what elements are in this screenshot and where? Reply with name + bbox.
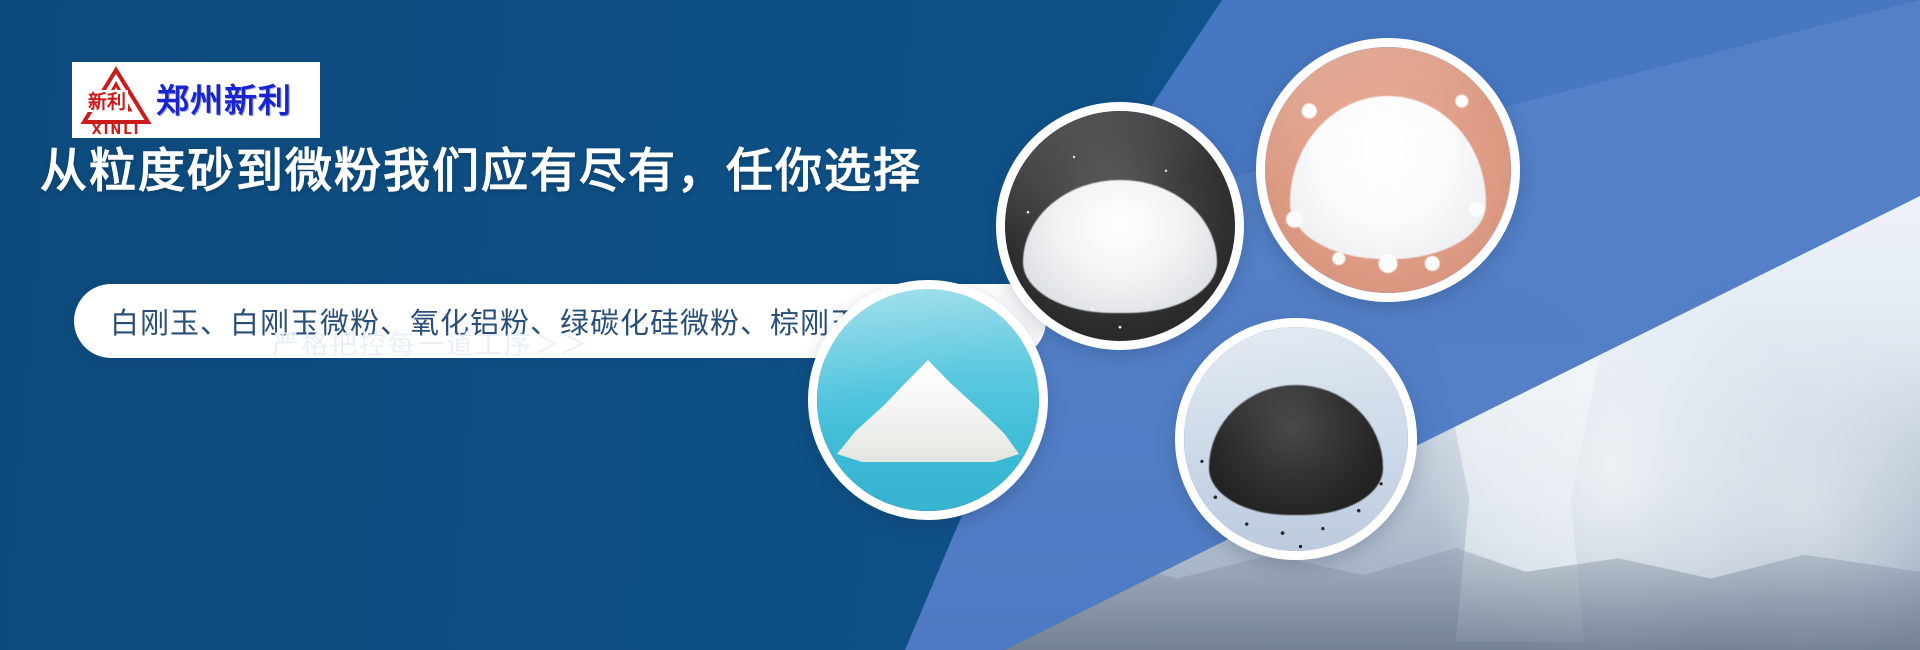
xinli-triangle-icon: 新利 XINLI xyxy=(78,64,154,136)
circle-backdrop xyxy=(1265,47,1511,293)
grit-speckles xyxy=(1005,111,1235,341)
product-circle-white-micro-powder xyxy=(808,280,1048,520)
svg-text:XINLI: XINLI xyxy=(92,123,141,136)
grit-speckles xyxy=(1184,327,1408,551)
circle-backdrop xyxy=(1184,327,1408,551)
powder-heap xyxy=(837,360,1019,462)
product-circle-alumina-powder xyxy=(1256,38,1520,302)
powder-lumps xyxy=(1265,47,1511,293)
subtitle-cta[interactable]: 严格把控每一道工序＞＞ xyxy=(272,323,587,362)
company-logo[interactable]: 新利 XINLI 郑州新利 xyxy=(72,62,320,138)
hero-banner: 新利 XINLI 郑州新利 从粒度砂到微粉我们应有尽有，任你选择 白刚玉、白刚玉… xyxy=(0,0,1920,650)
chevron-right-icon: ＞＞ xyxy=(533,330,587,361)
product-circle-black-silicon-carbide-grit xyxy=(1175,318,1417,560)
circle-backdrop xyxy=(817,289,1039,511)
product-circle-white-fused-alumina-grit xyxy=(996,102,1244,350)
circle-backdrop xyxy=(1005,111,1235,341)
page-title: 从粒度砂到微粉我们应有尽有，任你选择 xyxy=(40,143,922,202)
subtitle-text: 严格把控每一道工序 xyxy=(272,330,533,361)
logo-company-name: 郑州新利 xyxy=(156,84,292,117)
svg-text:新利: 新利 xyxy=(88,90,126,113)
